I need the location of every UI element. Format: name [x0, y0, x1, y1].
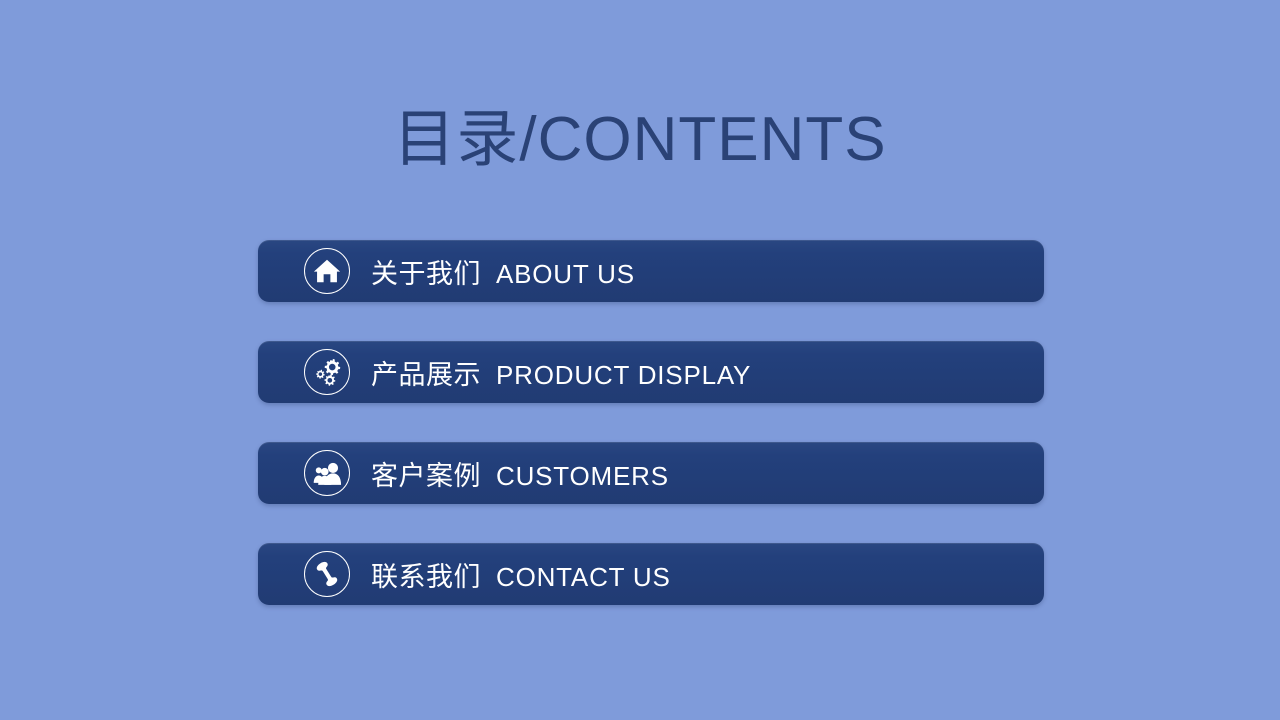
presentation-slide: 目录/CONTENTS 关于我们ABOUT US	[0, 0, 1280, 720]
contents-item-label-en: PRODUCT DISPLAY	[496, 360, 751, 390]
contents-item-customers[interactable]: 客户案例CUSTOMERS	[258, 442, 1044, 504]
contents-list: 关于我们ABOUT US 产品展示PRODUCT DISPLA	[258, 240, 1044, 605]
gears-icon	[304, 349, 350, 395]
contents-item-text: 客户案例CUSTOMERS	[371, 454, 669, 493]
contents-item-label-cn: 客户案例	[371, 461, 481, 491]
contents-item-label-cn: 联系我们	[371, 562, 481, 592]
contents-item-text: 关于我们ABOUT US	[371, 252, 635, 291]
contents-item-label-en: CONTACT US	[496, 562, 671, 592]
page-title: 目录/CONTENTS	[0, 100, 1280, 180]
contents-item-label-en: CUSTOMERS	[496, 461, 669, 491]
contents-item-label-en: ABOUT US	[496, 259, 635, 289]
home-icon	[304, 248, 350, 294]
phone-icon	[304, 551, 350, 597]
contents-item-label-cn: 产品展示	[371, 360, 481, 390]
people-icon	[304, 450, 350, 496]
contents-item-text: 产品展示PRODUCT DISPLAY	[371, 353, 751, 392]
contents-item-text: 联系我们CONTACT US	[371, 555, 671, 594]
contents-item-about-us[interactable]: 关于我们ABOUT US	[258, 240, 1044, 302]
contents-item-product-display[interactable]: 产品展示PRODUCT DISPLAY	[258, 341, 1044, 403]
contents-item-label-cn: 关于我们	[371, 259, 481, 289]
contents-item-contact-us[interactable]: 联系我们CONTACT US	[258, 543, 1044, 605]
